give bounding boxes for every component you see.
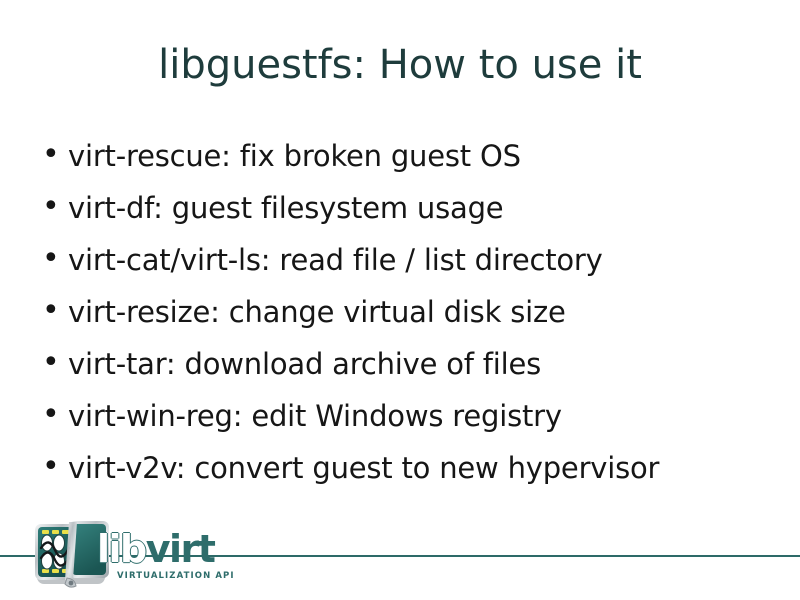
- list-item-label: virt-tar: download archive of files: [68, 342, 778, 386]
- list-item-label: virt-resize: change virtual disk size: [68, 290, 778, 334]
- bullet-point-icon: •: [38, 342, 68, 384]
- bullet-list: • virt-rescue: fix broken guest OS • vir…: [38, 134, 778, 498]
- presentation-slide: libguestfs: How to use it • virt-rescue:…: [0, 0, 800, 600]
- list-item-label: virt-rescue: fix broken guest OS: [68, 134, 778, 178]
- logo-tagline: VIRTUALIZATION API: [117, 571, 235, 581]
- list-item: • virt-tar: download archive of files: [38, 342, 778, 394]
- list-item-label: virt-cat/virt-ls: read file / list direc…: [68, 238, 778, 282]
- list-item-label: virt-df: guest filesystem usage: [68, 186, 778, 230]
- bullet-point-icon: •: [38, 238, 68, 280]
- list-item: • virt-cat/virt-ls: read file / list dir…: [38, 238, 778, 290]
- bullet-point-icon: •: [38, 134, 68, 176]
- logo-wordmark-virt: virt: [146, 527, 215, 571]
- bullet-point-icon: •: [38, 446, 68, 488]
- list-item-label: virt-v2v: convert guest to new hyperviso…: [68, 446, 778, 490]
- bullet-point-icon: •: [38, 290, 68, 332]
- bullet-point-icon: •: [38, 394, 68, 436]
- list-item: • virt-resize: change virtual disk size: [38, 290, 778, 342]
- list-item: • virt-v2v: convert guest to new hypervi…: [38, 446, 778, 498]
- logo-wordmark: libvirt: [97, 530, 214, 568]
- libvirt-logo: libvirt VIRTUALIZATION API: [33, 516, 218, 596]
- bullet-point-icon: •: [38, 186, 68, 228]
- page-title: libguestfs: How to use it: [0, 42, 800, 88]
- list-item: • virt-win-reg: edit Windows registry: [38, 394, 778, 446]
- list-item-label: virt-win-reg: edit Windows registry: [68, 394, 778, 438]
- logo-wordmark-lib: lib: [97, 527, 146, 571]
- list-item: • virt-rescue: fix broken guest OS: [38, 134, 778, 186]
- list-item: • virt-df: guest filesystem usage: [38, 186, 778, 238]
